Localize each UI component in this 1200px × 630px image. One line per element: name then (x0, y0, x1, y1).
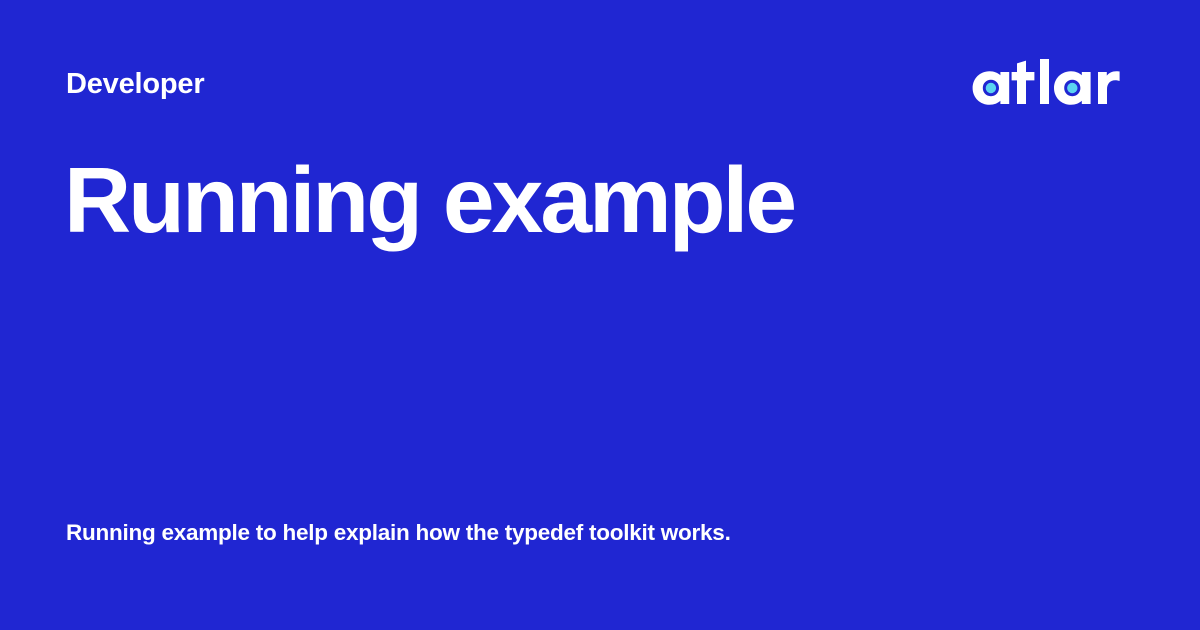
atlan-logo-icon[interactable] (972, 58, 1120, 108)
card-header: Developer (0, 0, 1200, 150)
page-title: Running example (64, 152, 1124, 249)
logo-dot-first-a (986, 83, 996, 93)
eyebrow-label: Developer (66, 70, 204, 99)
page-subtitle: Running example to help explain how the … (66, 518, 1126, 548)
logo-dot-second-a (1067, 83, 1077, 93)
og-card: Developer Running example Running exampl… (0, 0, 1200, 630)
